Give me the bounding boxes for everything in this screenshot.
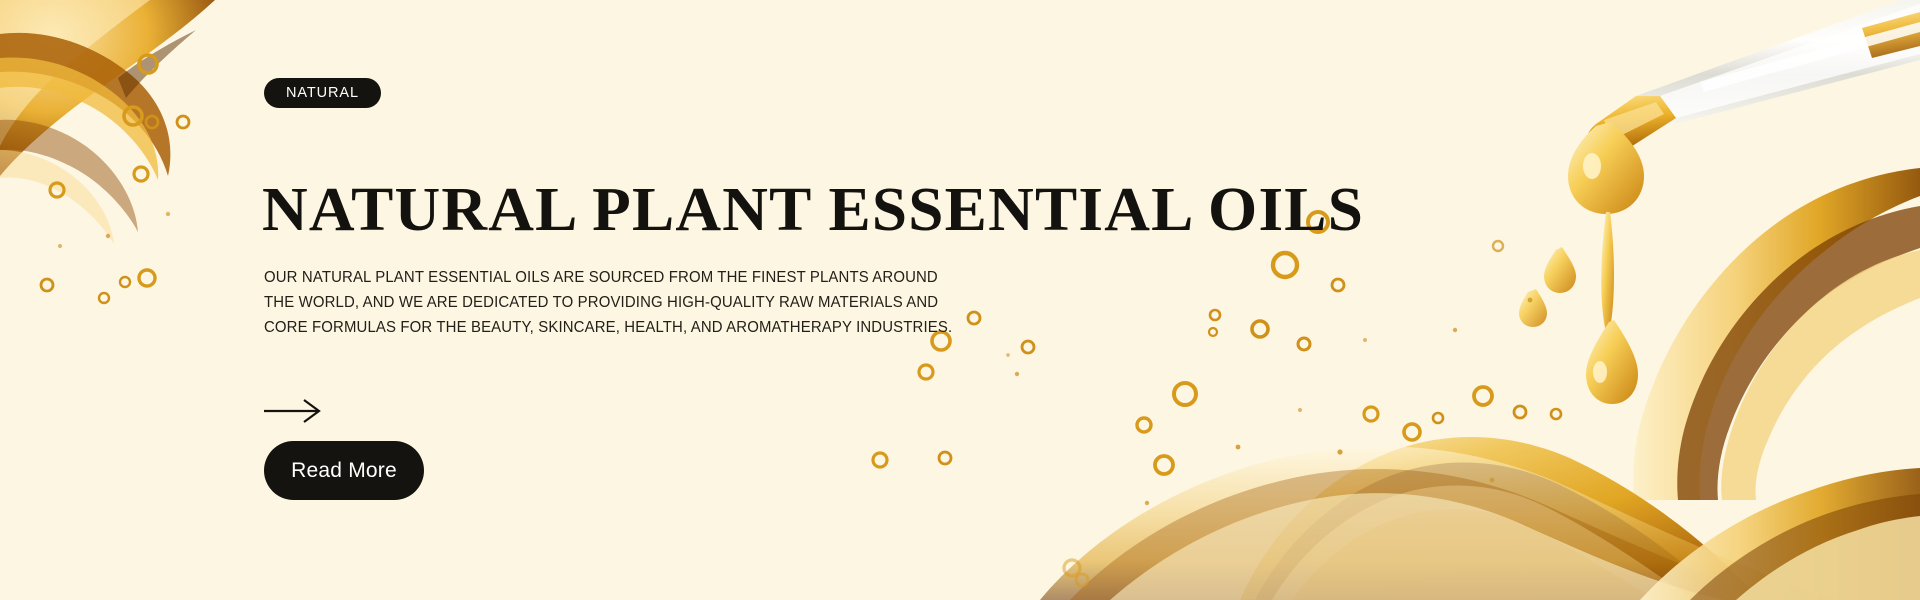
hero-banner: NATURAL NATURAL PLANT ESSENTIAL OILS OUR… [0, 0, 1920, 600]
falling-oil-droplet [1519, 122, 1644, 404]
banner-description: OUR NATURAL PLANT ESSENTIAL OILS ARE SOU… [264, 265, 972, 340]
glass-dropper-pipette [1587, 0, 1920, 156]
page-title: NATURAL PLANT ESSENTIAL OILS [262, 178, 1364, 242]
natural-badge: NATURAL [264, 78, 381, 108]
right-oil-wave-upper [1613, 150, 1920, 500]
arrow-right-link[interactable] [264, 398, 326, 424]
top-left-oil-swirl [0, 0, 215, 244]
banner-content: NATURAL NATURAL PLANT ESSENTIAL OILS OUR… [264, 0, 1264, 600]
arrow-right-icon [264, 398, 326, 424]
read-more-button[interactable]: Read More [264, 441, 424, 500]
